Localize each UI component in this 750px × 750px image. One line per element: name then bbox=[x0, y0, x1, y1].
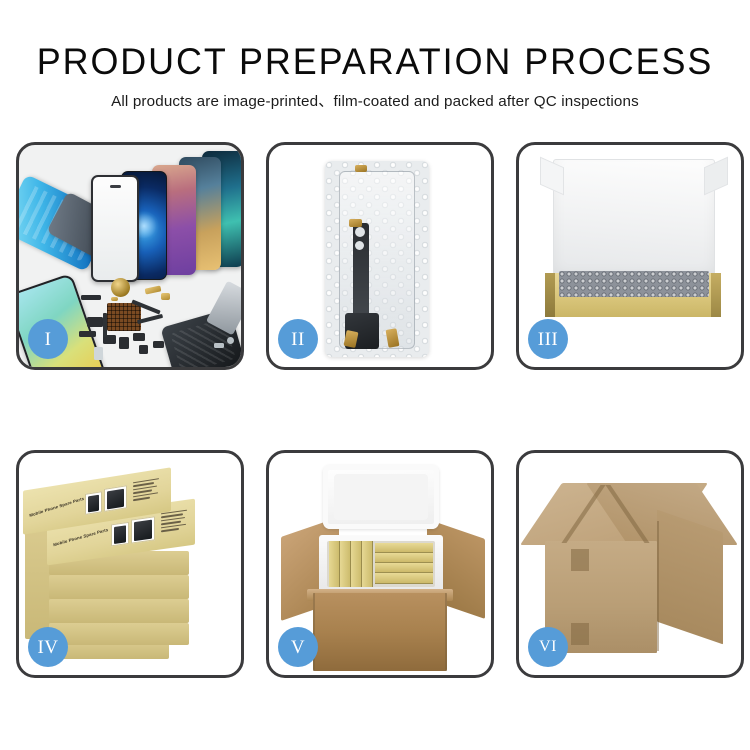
step-badge-5: V bbox=[278, 627, 318, 667]
process-step-2: II bbox=[266, 142, 494, 370]
step-badge-2: II bbox=[278, 319, 318, 359]
step-badge-6: VI bbox=[528, 627, 568, 667]
process-step-grid: I II III bbox=[0, 126, 750, 750]
step-badge-1: I bbox=[28, 319, 68, 359]
box-label: Mobile Phone Spare Parts bbox=[53, 527, 109, 547]
page-title: PRODUCT PREPARATION PROCESS bbox=[11, 41, 739, 83]
box-label: Mobile Phone Spare Parts bbox=[29, 496, 85, 518]
page-subtitle: All products are image-printed、film-coat… bbox=[0, 89, 750, 111]
process-step-6: VI bbox=[516, 450, 744, 678]
process-step-1: I bbox=[16, 142, 244, 370]
step-badge-4: IV bbox=[28, 627, 68, 667]
step-badge-3: III bbox=[528, 319, 568, 359]
process-step-4: Mobile Phone Spare Parts Mobile Phone Sp… bbox=[16, 450, 244, 678]
process-step-3: III bbox=[516, 142, 744, 370]
process-step-5: V bbox=[266, 450, 494, 678]
page-header: PRODUCT PREPARATION PROCESS All products… bbox=[0, 0, 750, 126]
